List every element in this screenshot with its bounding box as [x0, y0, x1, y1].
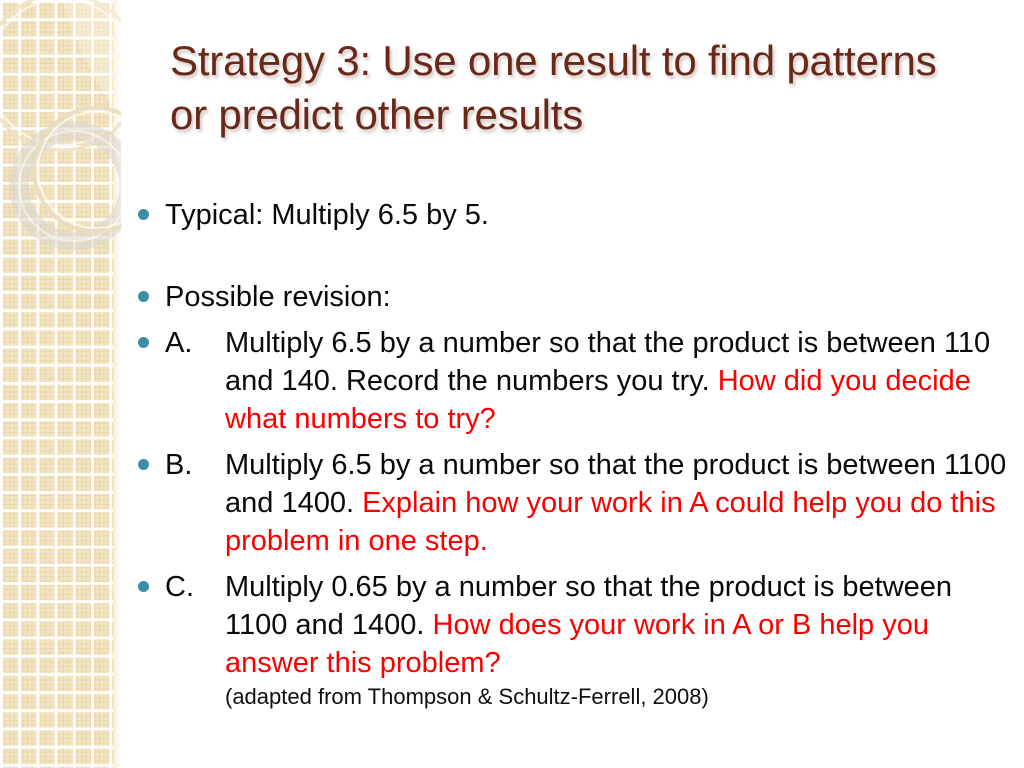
slide-body: Typical: Multiply 6.5 by 5. Possible rev… — [138, 196, 1018, 712]
spacer — [138, 234, 1018, 278]
slide: Strategy 3: Use one result to find patte… — [0, 0, 1024, 768]
citation-text: (adapted from Thompson & Schultz-Ferrell… — [225, 682, 1018, 712]
bullet-dot-icon — [138, 337, 149, 348]
spacer — [138, 560, 1018, 568]
item-text-a: Multiply 6.5 by a number so that the pro… — [225, 324, 1018, 438]
spacer — [138, 316, 1018, 324]
item-letter-b: B. — [165, 446, 225, 484]
bullet-possible-revision: Possible revision: — [138, 278, 1018, 316]
decorative-sidebar — [0, 0, 121, 768]
bullet-typical-text: Typical: Multiply 6.5 by 5. — [165, 196, 1018, 234]
sidebar-edge-fade — [113, 0, 121, 768]
spacer — [138, 438, 1018, 446]
bullet-dot-icon — [138, 459, 149, 470]
item-letter-c: C. — [165, 568, 225, 606]
list-item-a: A. Multiply 6.5 by a number so that the … — [138, 324, 1018, 438]
bullet-possible-revision-text: Possible revision: — [165, 278, 1018, 316]
list-item-b: B. Multiply 6.5 by a number so that the … — [138, 446, 1018, 560]
bullet-dot-icon — [138, 291, 149, 302]
slide-title: Strategy 3: Use one result to find patte… — [170, 34, 960, 142]
sidebar-grid-pattern — [0, 0, 113, 768]
item-letter-a: A. — [165, 324, 225, 362]
item-text-b: Multiply 6.5 by a number so that the pro… — [225, 446, 1018, 560]
item-text-c: Multiply 0.65 by a number so that the pr… — [225, 568, 1018, 682]
bullet-dot-icon — [138, 581, 149, 592]
bullet-dot-icon — [138, 209, 149, 220]
list-item-c: C. Multiply 0.65 by a number so that the… — [138, 568, 1018, 682]
bullet-typical: Typical: Multiply 6.5 by 5. — [138, 196, 1018, 234]
